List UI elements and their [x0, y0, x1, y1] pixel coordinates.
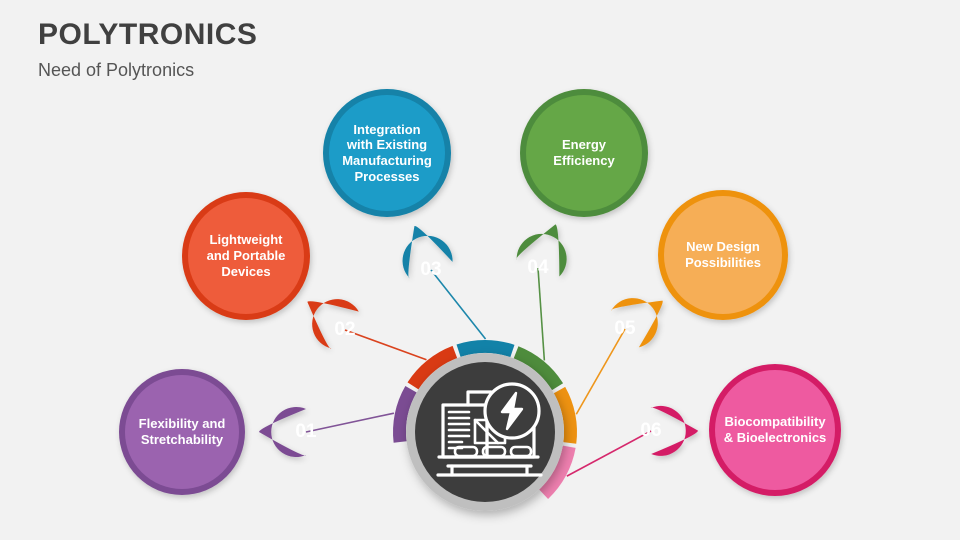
topic-node-04[interactable] [516, 89, 648, 277]
bubble-fill-01[interactable] [125, 375, 239, 489]
badge-teardrop-04[interactable] [516, 224, 566, 276]
hub-center[interactable] [406, 353, 564, 511]
connector-line-03 [431, 270, 486, 339]
bubble-fill-04[interactable] [526, 95, 642, 211]
slide-canvas: POLYTRONICS Need of Polytronics [0, 0, 960, 540]
radial-diagram [0, 0, 960, 540]
topic-node-02[interactable] [182, 192, 359, 349]
badge-teardrop-01[interactable] [259, 407, 306, 457]
badge-teardrop-03[interactable] [403, 226, 453, 278]
topic-node-06[interactable] [651, 364, 841, 496]
connector-line-01 [306, 413, 394, 432]
topic-node-01[interactable] [119, 369, 306, 495]
badge-teardrop-06[interactable] [651, 406, 698, 456]
connector-line-04 [538, 268, 544, 360]
badge-teardrop-02[interactable] [307, 299, 358, 348]
topic-node-03[interactable] [323, 89, 453, 278]
connector-line-02 [345, 330, 426, 360]
bubble-fill-06[interactable] [715, 370, 835, 490]
bubble-fill-05[interactable] [664, 196, 782, 314]
bubble-fill-02[interactable] [188, 198, 304, 314]
bubble-fill-03[interactable] [329, 95, 445, 211]
connector-line-06 [567, 431, 651, 476]
topic-node-05[interactable] [611, 190, 788, 347]
connector-line-05 [576, 329, 625, 414]
